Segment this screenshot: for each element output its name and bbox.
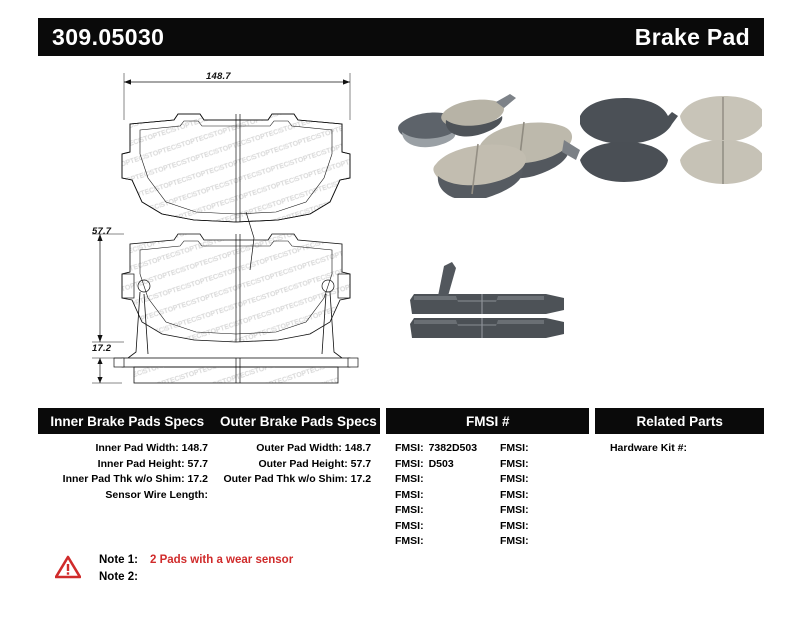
note-2-line: Note 2:	[99, 569, 293, 586]
fmsi-label: FMSI:	[395, 473, 424, 485]
fmsi-label: FMSI:	[500, 458, 529, 470]
pad-plan-view-top	[122, 114, 350, 222]
fmsi-row: FMSI:	[490, 503, 590, 519]
fmsi-label: FMSI:	[500, 520, 529, 532]
note-2-label: Note 2:	[99, 569, 145, 586]
note-2-text	[145, 571, 150, 583]
inner-specs-column: Inner Pad Width: 148.7 Inner Pad Height:…	[38, 441, 216, 550]
header-inner-specs: Inner Brake Pads Specs	[38, 408, 217, 434]
fmsi-label: FMSI:	[500, 504, 529, 516]
fmsi-row: FMSI:	[385, 488, 490, 504]
fmsi-row: FMSI:	[490, 534, 590, 550]
fmsi-row: FMSI:7382D503	[385, 441, 490, 457]
note-1-line: Note 1:2 Pads with a wear sensor	[99, 552, 293, 569]
fmsi-row: FMSI:	[385, 472, 490, 488]
fmsi-value: 7382D503	[424, 442, 477, 454]
width-dimension-line	[124, 73, 350, 120]
product-photos	[392, 88, 784, 388]
drawing-area: STOPTECH	[0, 62, 800, 392]
fmsi-label: FMSI:	[395, 535, 424, 547]
specs-table: Inner Brake Pads Specs Outer Brake Pads …	[38, 408, 764, 550]
outer-specs-column: Outer Pad Width: 148.7 Outer Pad Height:…	[216, 441, 379, 550]
fmsi-row: FMSI:	[385, 519, 490, 535]
note-lines: Note 1:2 Pads with a wear sensor Note 2:	[99, 552, 293, 586]
hardware-kit-row: Hardware Kit #:	[596, 441, 764, 457]
specs-table-header-row: Inner Brake Pads Specs Outer Brake Pads …	[38, 408, 764, 434]
fmsi-value	[529, 504, 534, 516]
fmsi-row: FMSI:	[490, 472, 590, 488]
pad-plan-view-middle	[122, 212, 350, 342]
part-number: 309.05030	[52, 24, 164, 51]
inner-pad-thickness: Inner Pad Thk w/o Shim: 17.2	[38, 472, 216, 488]
fmsi-column: FMSI:7382D503 FMSI:D503 FMSI: FMSI: FMSI…	[385, 441, 590, 550]
photo-edge-pads	[396, 256, 596, 356]
note-1-label: Note 1:	[99, 552, 145, 569]
fmsi-label: FMSI:	[395, 442, 424, 454]
fmsi-value	[529, 458, 534, 470]
fmsi-row: FMSI:	[490, 488, 590, 504]
notes-section: Note 1:2 Pads with a wear sensor Note 2:	[55, 552, 293, 586]
fmsi-label: FMSI:	[500, 535, 529, 547]
fmsi-subcolumn-b: FMSI: FMSI: FMSI: FMSI: FMSI:	[490, 441, 590, 550]
width-dimension-label: 148.7	[206, 71, 231, 82]
photo-angled-pads	[392, 88, 592, 198]
fmsi-value	[424, 473, 429, 485]
warning-triangle-icon	[55, 555, 81, 579]
fmsi-row: FMSI:	[490, 519, 590, 535]
fmsi-value	[424, 520, 429, 532]
inner-pad-width: Inner Pad Width: 148.7	[38, 441, 216, 457]
fmsi-row: FMSI:D503	[385, 457, 490, 473]
product-spec-sheet: 309.05030 Brake Pad STOPTECH	[0, 0, 800, 619]
outer-pad-height: Outer Pad Height: 57.7	[216, 457, 379, 473]
note-1-text: 2 Pads with a wear sensor	[145, 554, 293, 566]
thickness-dimension-label: 17.2	[92, 343, 111, 354]
fmsi-value	[529, 535, 534, 547]
fmsi-value	[529, 489, 534, 501]
header-related-parts: Related Parts	[595, 408, 764, 434]
fmsi-label: FMSI:	[395, 520, 424, 532]
specs-table-body: Inner Pad Width: 148.7 Inner Pad Height:…	[38, 434, 764, 550]
fmsi-value: D503	[424, 458, 454, 470]
height-dimension-line	[92, 234, 124, 342]
fmsi-label: FMSI:	[500, 489, 529, 501]
fmsi-value	[529, 473, 534, 485]
height-dimension-label: 57.7	[92, 226, 111, 237]
inner-pad-height: Inner Pad Height: 57.7	[38, 457, 216, 473]
fmsi-value	[529, 442, 534, 454]
sensor-wire-length: Sensor Wire Length:	[38, 488, 216, 504]
brake-pad-line-drawing: STOPTECH	[78, 62, 378, 392]
fmsi-row: FMSI:	[385, 534, 490, 550]
fmsi-row: FMSI:	[490, 441, 590, 457]
fmsi-row: FMSI:	[490, 457, 590, 473]
fmsi-label: FMSI:	[500, 473, 529, 485]
header-bar: 309.05030 Brake Pad	[38, 18, 764, 56]
fmsi-value	[424, 489, 429, 501]
fmsi-value	[424, 504, 429, 516]
product-type: Brake Pad	[635, 24, 750, 51]
fmsi-value	[529, 520, 534, 532]
outer-pad-width: Outer Pad Width: 148.7	[216, 441, 379, 457]
fmsi-label: FMSI:	[395, 458, 424, 470]
fmsi-subcolumn-a: FMSI:7382D503 FMSI:D503 FMSI: FMSI: FMSI…	[385, 441, 490, 550]
fmsi-row: FMSI:	[385, 503, 490, 519]
fmsi-label: FMSI:	[395, 489, 424, 501]
outer-pad-thickness: Outer Pad Thk w/o Shim: 17.2	[216, 472, 379, 488]
header-outer-specs: Outer Brake Pads Specs	[217, 408, 381, 434]
fmsi-value	[424, 535, 429, 547]
fmsi-label: FMSI:	[395, 504, 424, 516]
header-fmsi: FMSI #	[386, 408, 589, 434]
related-parts-column: Hardware Kit #:	[596, 441, 764, 550]
photo-flat-pads	[572, 90, 762, 200]
fmsi-label: FMSI:	[500, 442, 529, 454]
